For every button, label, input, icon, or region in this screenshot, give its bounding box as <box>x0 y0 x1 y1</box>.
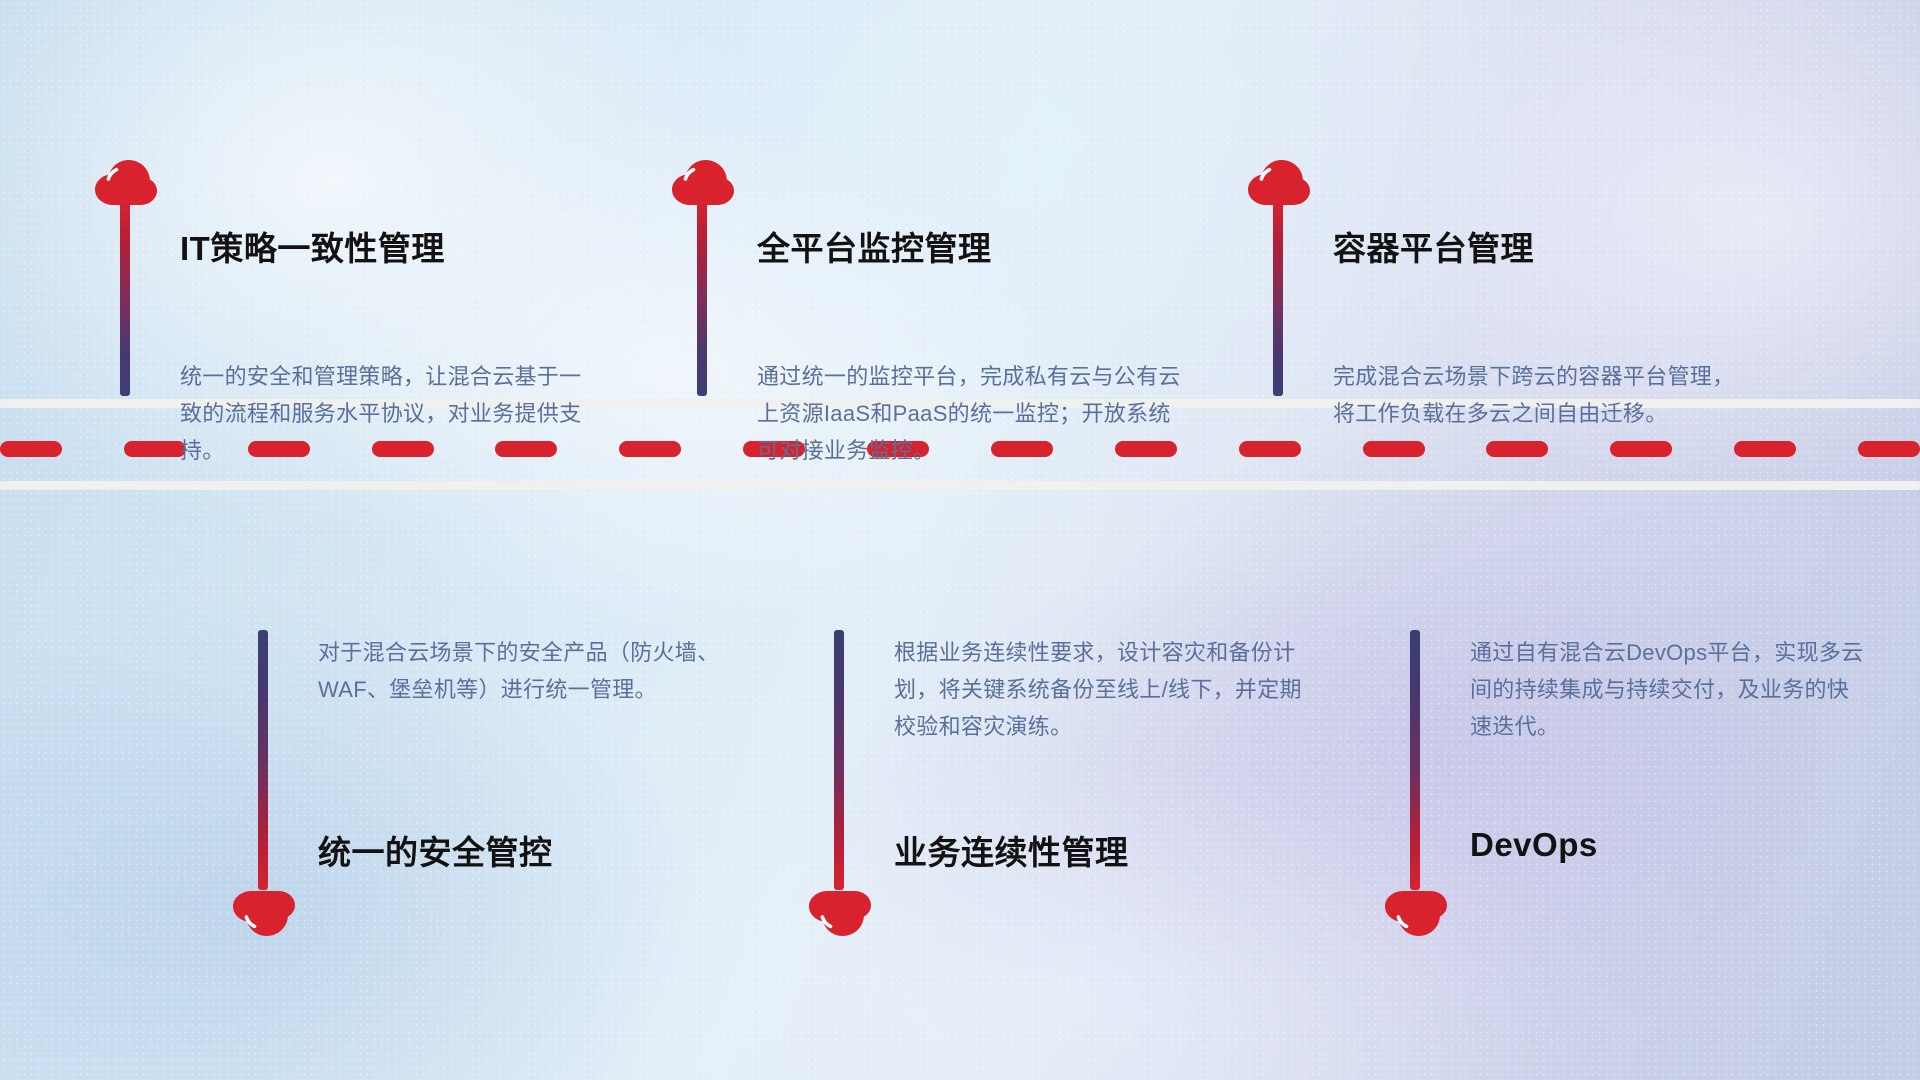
card-heading: DevOps <box>1470 826 1598 864</box>
road-line-lower <box>0 481 1920 490</box>
card-body-text: 统一的安全和管理策略，让混合云基于一致的流程和服务水平协议，对业务提供支持。 <box>180 358 600 469</box>
infographic-canvas: IT策略一致性管理 统一的安全和管理策略，让混合云基于一致的流程和服务水平协议，… <box>0 0 1920 1080</box>
road-dash-segment <box>1610 441 1672 457</box>
card-heading: 业务连续性管理 <box>894 826 1129 874</box>
card-heading: 容器平台管理 <box>1333 222 1534 270</box>
road-dash-segment <box>1363 441 1425 457</box>
card-body-text: 通过自有混合云DevOps平台，实现多云间的持续集成与持续交付，及业务的快速迭代… <box>1470 634 1870 745</box>
road-dash-segment <box>1858 441 1920 457</box>
card-heading: 全平台监控管理 <box>757 222 992 270</box>
pin-connector <box>834 630 844 890</box>
card-body-text: 通过统一的监控平台，完成私有云与公有云上资源IaaS和PaaS的统一监控；开放系… <box>757 358 1187 469</box>
card-body-text: 完成混合云场景下跨云的容器平台管理，将工作负载在多云之间自由迁移。 <box>1333 358 1753 432</box>
pin-connector <box>1410 630 1420 890</box>
cloud-icon <box>809 890 871 936</box>
pin-connector <box>697 200 707 396</box>
road-dash-segment <box>619 441 681 457</box>
road-dash-segment <box>1734 441 1796 457</box>
pin-connector <box>258 630 268 890</box>
pin-connector <box>1273 200 1283 396</box>
card-body-text: 对于混合云场景下的安全产品（防火墙、WAF、堡垒机等）进行统一管理。 <box>318 634 738 708</box>
card-heading: 统一的安全管控 <box>318 826 553 874</box>
pin-connector <box>120 200 130 396</box>
card-body-text: 根据业务连续性要求，设计容灾和备份计划，将关键系统备份至线上/线下，并定期校验和… <box>894 634 1314 745</box>
road-dash-segment <box>1486 441 1548 457</box>
road-dash-segment <box>124 441 186 457</box>
background-texture-warm <box>1080 560 1780 940</box>
road-dash-segment <box>0 441 62 457</box>
cloud-icon <box>1385 890 1447 936</box>
card-heading: IT策略一致性管理 <box>180 222 445 270</box>
cloud-icon <box>233 890 295 936</box>
road-dash-segment <box>1239 441 1301 457</box>
